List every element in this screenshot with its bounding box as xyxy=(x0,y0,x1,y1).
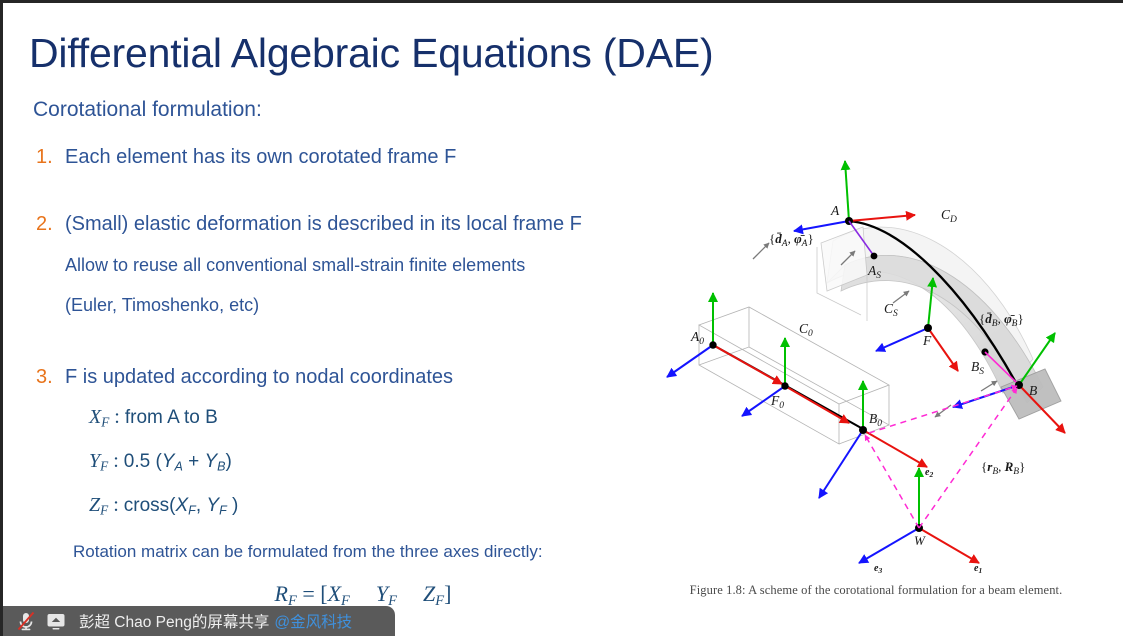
list-marker-2: 2. xyxy=(36,210,53,239)
label-A0: A0 xyxy=(690,329,704,347)
list-item: 1. Each element has its own corotated fr… xyxy=(33,143,673,172)
spacer xyxy=(33,178,673,210)
math-y-rhs: 0.5 (YA + YB) xyxy=(124,451,232,472)
list-item-text-3: F is updated according to nodal coordina… xyxy=(65,366,453,388)
label-e3: e3 xyxy=(874,563,882,575)
undeformed-beam-box xyxy=(699,307,889,444)
point-AS xyxy=(871,253,878,260)
list-marker-1: 1. xyxy=(36,143,53,172)
label-dA: {d̄A, φ̄A} xyxy=(769,231,814,249)
screen-share-icon[interactable] xyxy=(43,610,69,632)
math-line-y: YF : 0.5 (YA + YB) xyxy=(33,442,673,487)
figure-svg: A0 F0 B0 C0 A AS F BS B CS CD {d̄A, φ̄A}… xyxy=(631,143,1123,613)
math-line-x: XF : from A to B xyxy=(33,398,673,442)
math-x-rhs: from A to B xyxy=(125,407,218,428)
label-e1: e1 xyxy=(974,563,982,575)
math-y-symbol: Y xyxy=(89,450,100,472)
presentation-slide: Differential Algebraic Equations (DAE) C… xyxy=(0,0,1123,636)
label-e2: e2 xyxy=(925,467,933,479)
spacer xyxy=(33,325,673,363)
math-y-subscript: F xyxy=(100,458,108,473)
math-line-z: ZF : cross(XF, YF ) xyxy=(33,486,673,531)
label-CS: CS xyxy=(884,301,898,319)
list-item-text-1: Each element has its own corotated frame… xyxy=(65,146,456,168)
label-B0: B0 xyxy=(869,411,882,429)
math-x-subscript: F xyxy=(101,415,109,430)
frame-W xyxy=(859,468,979,563)
math-x-symbol: X xyxy=(89,406,101,428)
math-y-colon: : xyxy=(113,450,119,472)
label-W: W xyxy=(914,533,926,548)
beam-corotational-figure: A0 F0 B0 C0 A AS F BS B CS CD {d̄A, φ̄A}… xyxy=(631,143,1123,613)
list-item: 2. (Small) elastic deformation is descri… xyxy=(33,210,673,239)
label-rB: {rB, RB} xyxy=(981,459,1025,477)
screen-share-bar[interactable]: 彭超 Chao Peng的屏幕共享 @金风科技 xyxy=(3,606,395,636)
frame-A0 xyxy=(667,293,782,384)
math-z-rhs: cross(XF, YF ) xyxy=(124,495,239,516)
page-title: Differential Algebraic Equations (DAE) xyxy=(29,25,789,81)
slide-body: Corotational formulation: 1. Each elemen… xyxy=(33,95,673,610)
label-F0: F0 xyxy=(770,393,784,411)
rotation-matrix-note: Rotation matrix can be formulated from t… xyxy=(33,537,673,567)
sub-line-2: (Euler, Timoshenko, etc) xyxy=(33,285,673,325)
sub-line-1: Allow to reuse all conventional small-st… xyxy=(33,245,673,285)
label-A: A xyxy=(830,203,840,218)
math-z-subscript: F xyxy=(100,503,108,518)
math-z-colon: : xyxy=(113,494,119,516)
position-vectors xyxy=(865,386,1017,528)
label-BS: BS xyxy=(971,359,984,377)
frame-B0 xyxy=(819,381,927,498)
label-F: F xyxy=(922,333,932,348)
math-x-colon: : xyxy=(114,406,120,428)
microphone-muted-icon[interactable] xyxy=(13,610,39,632)
slide-subtitle: Corotational formulation: xyxy=(33,95,673,125)
list-item: 3. F is updated according to nodal coord… xyxy=(33,363,673,392)
frame-A xyxy=(794,161,915,231)
frame-F0 xyxy=(742,338,849,423)
label-CD: CD xyxy=(941,207,957,225)
share-host-label: @金风科技 xyxy=(274,610,352,632)
share-owner-label: 彭超 Chao Peng的屏幕共享 xyxy=(79,610,269,632)
list-item-text-2: (Small) elastic deformation is described… xyxy=(65,213,582,235)
list-marker-3: 3. xyxy=(36,363,53,392)
math-z-symbol: Z xyxy=(89,494,100,516)
figure-caption: Figure 1.8: A scheme of the corotational… xyxy=(641,583,1111,598)
label-B: B xyxy=(1029,383,1037,398)
